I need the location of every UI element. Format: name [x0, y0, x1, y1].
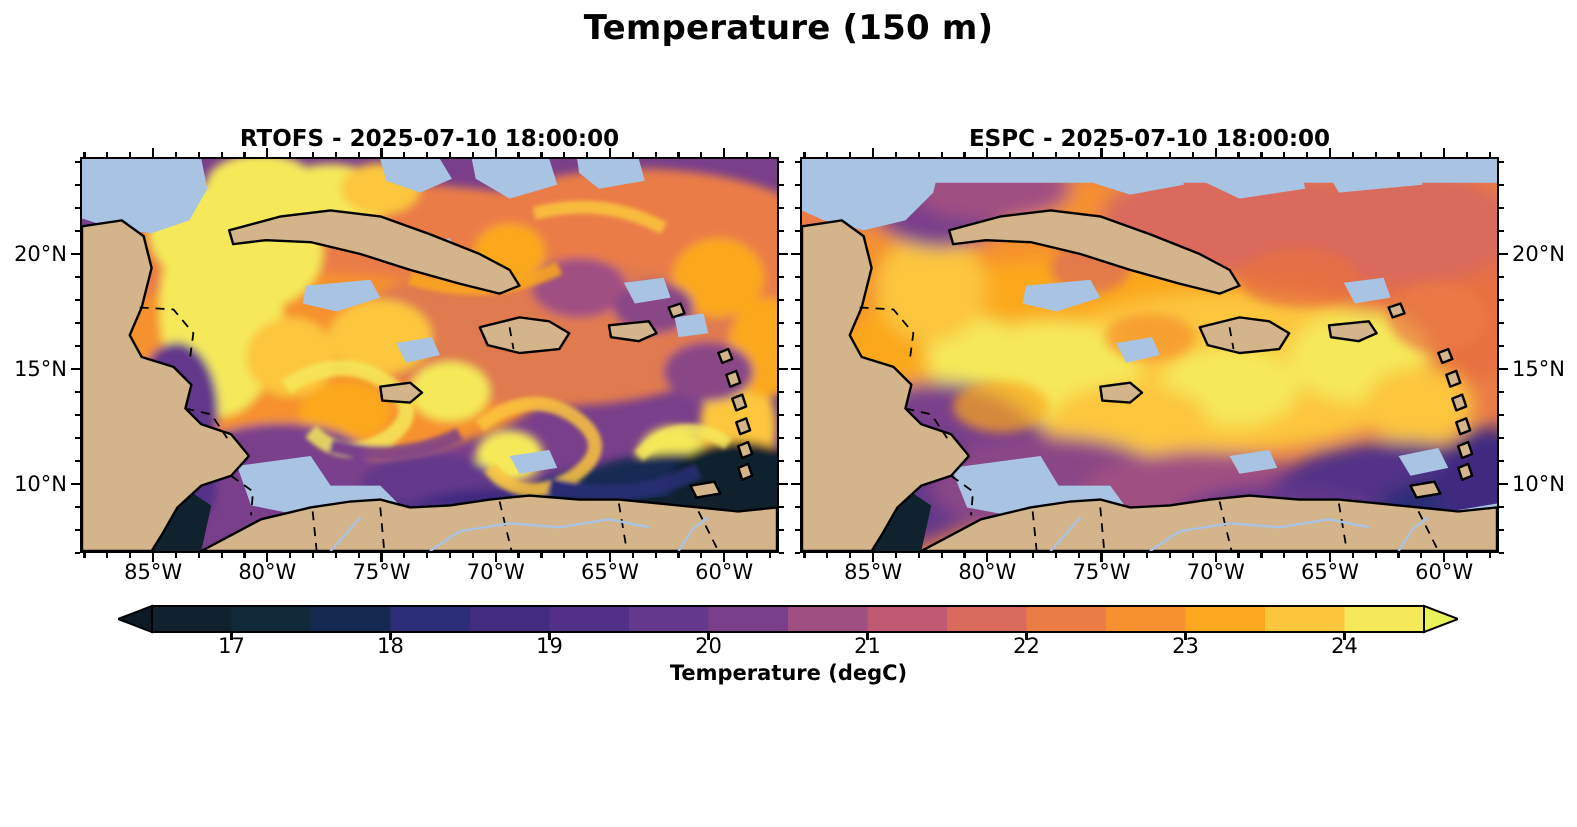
panel-rtofs-title: RTOFS - 2025-07-10 18:00:00: [80, 126, 779, 152]
x-tick-top: [963, 152, 965, 157]
x-tick: [746, 553, 748, 558]
x-tick-top: [563, 152, 565, 157]
x-tick-top: [1489, 152, 1491, 157]
x-tick: [243, 553, 245, 558]
x-tick-top: [1146, 152, 1148, 157]
colorbar-segment: [788, 606, 868, 632]
x-tick: [540, 553, 542, 558]
x-tick-top: [941, 152, 943, 157]
x-tick: [289, 553, 291, 558]
map-espc[interactable]: [800, 157, 1499, 553]
y-tick-right: [1499, 529, 1504, 531]
x-tick: [1352, 553, 1354, 558]
colorbar-svg: [118, 604, 1458, 634]
y-tick-left: [75, 437, 80, 439]
x-tick-top: [266, 148, 268, 157]
x-tick-top: [1123, 152, 1125, 157]
colorbar-segment: [1106, 606, 1186, 632]
x-tick-top: [1100, 148, 1102, 157]
x-tick-top: [495, 148, 497, 157]
y-tick-right: [1499, 483, 1508, 485]
y-tick-right: [779, 368, 788, 370]
x-tick: [700, 553, 702, 558]
x-tick-top: [918, 152, 920, 157]
x-tick-top: [826, 152, 828, 157]
x-tick-top: [872, 148, 874, 157]
x-tick: [1283, 553, 1285, 558]
y-tick-right: [779, 276, 784, 278]
y-tick-right: [1499, 552, 1504, 554]
x-tick-top: [335, 152, 337, 157]
colorbar-segment: [470, 606, 550, 632]
y-tick-left: [795, 276, 800, 278]
x-tick: [963, 553, 965, 558]
x-tick-top: [540, 152, 542, 157]
colorbar-segment: [1265, 606, 1345, 632]
colorbar-segment: [1186, 606, 1266, 632]
x-tick-top: [221, 152, 223, 157]
y-tick-right: [779, 552, 784, 554]
y-tick-left: [795, 345, 800, 347]
colorbar-segment: [232, 606, 312, 632]
y-tick-left: [795, 414, 800, 416]
panel-espc: ESPC - 2025-07-10 18:00:00: [800, 157, 1499, 553]
x-tick: [1375, 553, 1377, 558]
y-tick-label-left: 10°N: [14, 472, 67, 496]
x-tick-top: [289, 152, 291, 157]
x-tick: [1397, 553, 1399, 558]
x-tick: [1123, 553, 1125, 558]
y-tick-right: [1499, 414, 1504, 416]
colorbar-segment: [391, 606, 471, 632]
x-tick-top: [1055, 152, 1057, 157]
y-tick-right: [1499, 368, 1508, 370]
y-tick-left: [791, 368, 800, 370]
colorbar-segment: [709, 606, 789, 632]
y-tick-left: [75, 506, 80, 508]
y-tick-right: [779, 299, 784, 301]
x-tick-label: 65°W: [1301, 560, 1359, 584]
colorbar-segment: [629, 606, 709, 632]
x-tick-top: [1237, 152, 1239, 157]
y-tick-label-right: 15°N: [1512, 357, 1565, 381]
espc-field: [802, 159, 1497, 551]
x-tick-label: 60°W: [1415, 560, 1473, 584]
y-tick-right: [1499, 230, 1504, 232]
x-tick: [1009, 553, 1011, 558]
x-tick-top: [426, 152, 428, 157]
colorbar-segment: [550, 606, 630, 632]
y-tick-right: [779, 322, 784, 324]
x-tick-top: [769, 152, 771, 157]
x-tick-top: [1078, 152, 1080, 157]
x-tick-top: [380, 148, 382, 157]
x-tick-top: [1352, 152, 1354, 157]
y-tick-right: [1499, 184, 1504, 186]
x-tick-label: 75°W: [1073, 560, 1131, 584]
x-tick: [1466, 553, 1468, 558]
y-tick-right: [779, 184, 784, 186]
x-tick-top: [1215, 148, 1217, 157]
x-tick-top: [152, 148, 154, 157]
x-tick-top: [83, 152, 85, 157]
y-tick-label-left: 20°N: [14, 242, 67, 266]
x-tick: [677, 553, 679, 558]
y-tick-left: [795, 552, 800, 554]
colorbar-tick-label: 18: [377, 634, 404, 658]
colorbar-tick-label: 19: [536, 634, 563, 658]
x-tick-top: [1283, 152, 1285, 157]
x-tick: [426, 553, 428, 558]
x-tick-top: [586, 152, 588, 157]
colorbar-tick-label: 21: [854, 634, 881, 658]
x-tick: [198, 553, 200, 558]
y-tick-label-right: 10°N: [1512, 472, 1565, 496]
y-tick-left: [75, 529, 80, 531]
x-tick-top: [1009, 152, 1011, 157]
x-tick-top: [677, 152, 679, 157]
x-tick-top: [803, 152, 805, 157]
y-tick-label-left: 15°N: [14, 357, 67, 381]
x-tick: [655, 553, 657, 558]
y-tick-left: [795, 299, 800, 301]
y-tick-right: [1499, 391, 1504, 393]
colorbar-segment: [311, 606, 391, 632]
x-tick: [803, 553, 805, 558]
y-tick-left: [795, 322, 800, 324]
y-tick-left: [75, 299, 80, 301]
y-tick-left: [75, 161, 80, 163]
x-tick-top: [1306, 152, 1308, 157]
y-tick-left: [795, 161, 800, 163]
x-tick: [1192, 553, 1194, 558]
x-tick-label: 75°W: [353, 560, 411, 584]
panel-espc-title: ESPC - 2025-07-10 18:00:00: [800, 126, 1499, 152]
x-tick-top: [175, 152, 177, 157]
x-tick-label: 80°W: [238, 560, 296, 584]
figure-title: Temperature (150 m): [0, 8, 1577, 48]
y-tick-left: [795, 391, 800, 393]
x-tick-label: 70°W: [467, 560, 525, 584]
x-tick-top: [723, 148, 725, 157]
colorbar-tick-label: 24: [1331, 634, 1358, 658]
y-tick-left: [795, 207, 800, 209]
y-tick-right: [1499, 322, 1504, 324]
y-tick-right: [1499, 460, 1504, 462]
x-tick-label: 65°W: [581, 560, 639, 584]
x-tick: [1420, 553, 1422, 558]
x-tick: [941, 553, 943, 558]
colorbar-tick-label: 17: [218, 634, 245, 658]
y-tick-left: [795, 184, 800, 186]
y-tick-right: [779, 460, 784, 462]
x-tick: [563, 553, 565, 558]
y-tick-left: [75, 460, 80, 462]
x-tick: [312, 553, 314, 558]
y-tick-right: [1499, 506, 1504, 508]
y-tick-left: [75, 391, 80, 393]
x-tick: [221, 553, 223, 558]
x-tick: [1260, 553, 1262, 558]
x-tick-label: 85°W: [124, 560, 182, 584]
x-tick: [517, 553, 519, 558]
x-tick-top: [609, 148, 611, 157]
x-tick-label: 60°W: [695, 560, 753, 584]
y-tick-left: [75, 414, 80, 416]
panel-rtofs: RTOFS - 2025-07-10 18:00:00: [80, 157, 779, 553]
x-tick-top: [1329, 148, 1331, 157]
x-tick: [1306, 553, 1308, 558]
x-tick-top: [517, 152, 519, 157]
x-tick-label: 70°W: [1187, 560, 1245, 584]
y-tick-right: [779, 253, 788, 255]
x-tick: [106, 553, 108, 558]
y-tick-left: [795, 460, 800, 462]
y-tick-right: [1499, 345, 1504, 347]
y-tick-left: [75, 276, 80, 278]
colorbar-segment: [868, 606, 948, 632]
x-tick-top: [449, 152, 451, 157]
y-tick-left: [795, 437, 800, 439]
x-tick-top: [632, 152, 634, 157]
y-tick-right: [779, 230, 784, 232]
y-tick-right: [779, 506, 784, 508]
x-tick-top: [1375, 152, 1377, 157]
map-espc-svg: [802, 159, 1497, 551]
y-tick-right: [1499, 299, 1504, 301]
x-tick: [586, 553, 588, 558]
map-rtofs[interactable]: [80, 157, 779, 553]
y-tick-left: [71, 483, 80, 485]
x-tick-top: [1443, 148, 1445, 157]
y-tick-right: [779, 207, 784, 209]
x-tick: [632, 553, 634, 558]
x-tick-top: [655, 152, 657, 157]
y-tick-right: [779, 161, 784, 163]
x-tick: [1078, 553, 1080, 558]
y-tick-label-right: 20°N: [1512, 242, 1565, 266]
y-tick-left: [795, 529, 800, 531]
y-tick-left: [75, 552, 80, 554]
y-tick-left: [75, 230, 80, 232]
x-tick-top: [849, 152, 851, 157]
x-tick: [358, 553, 360, 558]
x-tick: [335, 553, 337, 558]
colorbar-segment: [152, 606, 232, 632]
x-tick-top: [243, 152, 245, 157]
x-tick-top: [472, 152, 474, 157]
y-tick-left: [75, 345, 80, 347]
x-tick: [1032, 553, 1034, 558]
rtofs-field: [82, 159, 777, 551]
map-rtofs-svg: [82, 159, 777, 551]
x-tick-top: [746, 152, 748, 157]
y-tick-right: [779, 529, 784, 531]
x-tick-top: [198, 152, 200, 157]
y-tick-right: [1499, 253, 1508, 255]
x-tick: [175, 553, 177, 558]
y-tick-right: [1499, 207, 1504, 209]
y-tick-left: [791, 253, 800, 255]
x-tick: [1237, 553, 1239, 558]
y-tick-right: [779, 391, 784, 393]
x-tick: [769, 553, 771, 558]
x-tick-top: [986, 148, 988, 157]
colorbar[interactable]: [118, 604, 1458, 634]
x-tick-top: [312, 152, 314, 157]
y-tick-left: [75, 207, 80, 209]
y-tick-right: [1499, 161, 1504, 163]
y-tick-left: [71, 253, 80, 255]
colorbar-title: Temperature (degC): [0, 661, 1577, 685]
x-tick-top: [403, 152, 405, 157]
colorbar-tick-label: 20: [695, 634, 722, 658]
x-tick-top: [1466, 152, 1468, 157]
x-tick-top: [895, 152, 897, 157]
x-tick-top: [1192, 152, 1194, 157]
x-tick-top: [700, 152, 702, 157]
colorbar-segment: [947, 606, 1027, 632]
x-tick: [1169, 553, 1171, 558]
x-tick: [918, 553, 920, 558]
y-tick-right: [779, 414, 784, 416]
x-tick: [1489, 553, 1491, 558]
x-tick-top: [1420, 152, 1422, 157]
x-tick: [1146, 553, 1148, 558]
x-tick: [449, 553, 451, 558]
x-tick-label: 85°W: [844, 560, 902, 584]
x-tick-top: [106, 152, 108, 157]
y-tick-left: [75, 322, 80, 324]
y-tick-right: [1499, 437, 1504, 439]
x-tick-top: [358, 152, 360, 157]
x-tick-top: [1032, 152, 1034, 157]
x-tick: [129, 553, 131, 558]
y-tick-left: [71, 368, 80, 370]
colorbar-segment: [1345, 606, 1425, 632]
colorbar-tick-label: 22: [1013, 634, 1040, 658]
x-tick: [1055, 553, 1057, 558]
colorbar-segment: [1027, 606, 1107, 632]
y-tick-right: [779, 345, 784, 347]
y-tick-left: [795, 230, 800, 232]
x-tick: [403, 553, 405, 558]
x-tick: [83, 553, 85, 558]
y-tick-left: [795, 506, 800, 508]
x-tick: [826, 553, 828, 558]
x-tick-top: [1397, 152, 1399, 157]
y-tick-left: [75, 184, 80, 186]
y-tick-right: [779, 483, 788, 485]
x-tick-label: 80°W: [958, 560, 1016, 584]
x-tick-top: [1169, 152, 1171, 157]
y-tick-right: [779, 437, 784, 439]
colorbar-tick-label: 23: [1172, 634, 1199, 658]
x-tick: [849, 553, 851, 558]
x-tick: [472, 553, 474, 558]
y-tick-right: [1499, 276, 1504, 278]
y-tick-left: [791, 483, 800, 485]
x-tick-top: [1260, 152, 1262, 157]
x-tick-top: [129, 152, 131, 157]
x-tick: [895, 553, 897, 558]
